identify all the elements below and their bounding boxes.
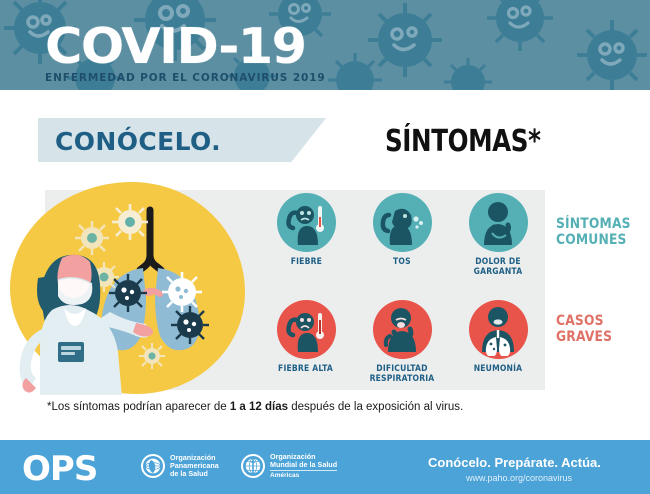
covid-infographic-poster: COVID-19 ENFERMEDAD POR EL CORONAVIRUS 2… bbox=[0, 0, 650, 494]
paho-org-text: Organización Panamericana de la Salud bbox=[170, 454, 219, 479]
who-organization-lockup: Organización Mundial de la Salud América… bbox=[240, 453, 337, 479]
pneumonia-lungs-icon bbox=[469, 300, 528, 359]
page-title: COVID-19 bbox=[45, 22, 337, 71]
symptom-row-severe: FIEBRE ALTA DIFICULTAD RESPIRATORIA bbox=[258, 300, 548, 384]
virus-particle-dark-2 bbox=[171, 306, 209, 344]
category-label-common: SÍNTOMAS COMUNES bbox=[556, 216, 631, 248]
footnote-prefix: *Los síntomas podrían aparecer de bbox=[47, 401, 227, 413]
section-title-sintomas: SÍNTOMAS* bbox=[385, 124, 541, 159]
doctor-with-lungs-illustration bbox=[0, 180, 250, 395]
virus-particle-pale-2 bbox=[112, 204, 148, 240]
symptom-item-tos[interactable]: TOS bbox=[354, 193, 450, 277]
conocelo-banner-label: CONÓCELO. bbox=[55, 127, 221, 156]
high-fever-thermometer-icon bbox=[277, 300, 336, 359]
who-line-2: Mundial de la Salud bbox=[270, 461, 337, 469]
fever-thermometer-icon bbox=[277, 193, 336, 252]
virus-particle-dark-1 bbox=[109, 274, 147, 312]
cough-icon bbox=[373, 193, 432, 252]
virus-particle-pale-4 bbox=[139, 343, 165, 369]
symptom-item-fiebre[interactable]: FIEBRE bbox=[258, 193, 354, 277]
symptom-label: FIEBRE ALTA bbox=[279, 364, 334, 374]
symptom-label: DIFICULTAD RESPIRATORIA bbox=[359, 364, 445, 384]
footnote-suffix: después de la exposición al virus. bbox=[291, 401, 463, 413]
who-region-label: Américas bbox=[270, 470, 337, 479]
who-emblem-icon bbox=[240, 453, 266, 479]
category-line-2: GRAVES bbox=[556, 329, 612, 345]
paho-seal-icon bbox=[140, 453, 166, 479]
symptom-label: DOLOR DE GARGANTA bbox=[455, 257, 541, 277]
category-line-1: SÍNTOMAS bbox=[556, 216, 631, 232]
symptom-item-dificultad-respiratoria[interactable]: DIFICULTAD RESPIRATORIA bbox=[354, 300, 450, 384]
symptom-label: TOS bbox=[393, 257, 411, 267]
poster-header: COVID-19 ENFERMEDAD POR EL CORONAVIRUS 2… bbox=[0, 0, 650, 90]
who-org-text: Organización Mundial de la Salud América… bbox=[270, 453, 337, 479]
category-label-severe: CASOS GRAVES bbox=[556, 313, 612, 345]
sore-throat-icon bbox=[469, 193, 528, 252]
footer-url[interactable]: www.paho.org/coronavirus bbox=[466, 473, 572, 483]
paho-organization-lockup: Organización Panamericana de la Salud bbox=[140, 453, 219, 479]
symptom-item-dolor-garganta[interactable]: DOLOR DE GARGANTA bbox=[450, 193, 546, 277]
footnote: *Los síntomas podrían aparecer de 1 a 12… bbox=[47, 401, 463, 413]
symptom-item-fiebre-alta[interactable]: FIEBRE ALTA bbox=[258, 300, 354, 384]
virus-particle-white-1 bbox=[162, 272, 202, 312]
category-line-2: COMUNES bbox=[556, 232, 631, 248]
symptom-label: NEUMONÍA bbox=[474, 364, 523, 374]
footnote-emphasis: 1 a 12 días bbox=[230, 401, 288, 413]
virus-particle-pale-1 bbox=[75, 221, 109, 255]
paho-line-3: de la Salud bbox=[170, 470, 219, 478]
symptom-row-common: FIEBRE TOS bbox=[258, 193, 548, 277]
breathing-difficulty-icon bbox=[373, 300, 432, 359]
title-block: COVID-19 ENFERMEDAD POR EL CORONAVIRUS 2… bbox=[45, 22, 326, 84]
symptom-item-neumonia[interactable]: NEUMONÍA bbox=[450, 300, 546, 384]
category-line-1: CASOS bbox=[556, 313, 612, 329]
ops-logo: OPS bbox=[22, 452, 97, 486]
symptom-label: FIEBRE bbox=[290, 257, 321, 267]
footer-tagline: Conócelo. Prepárate. Actúa. bbox=[428, 455, 601, 470]
